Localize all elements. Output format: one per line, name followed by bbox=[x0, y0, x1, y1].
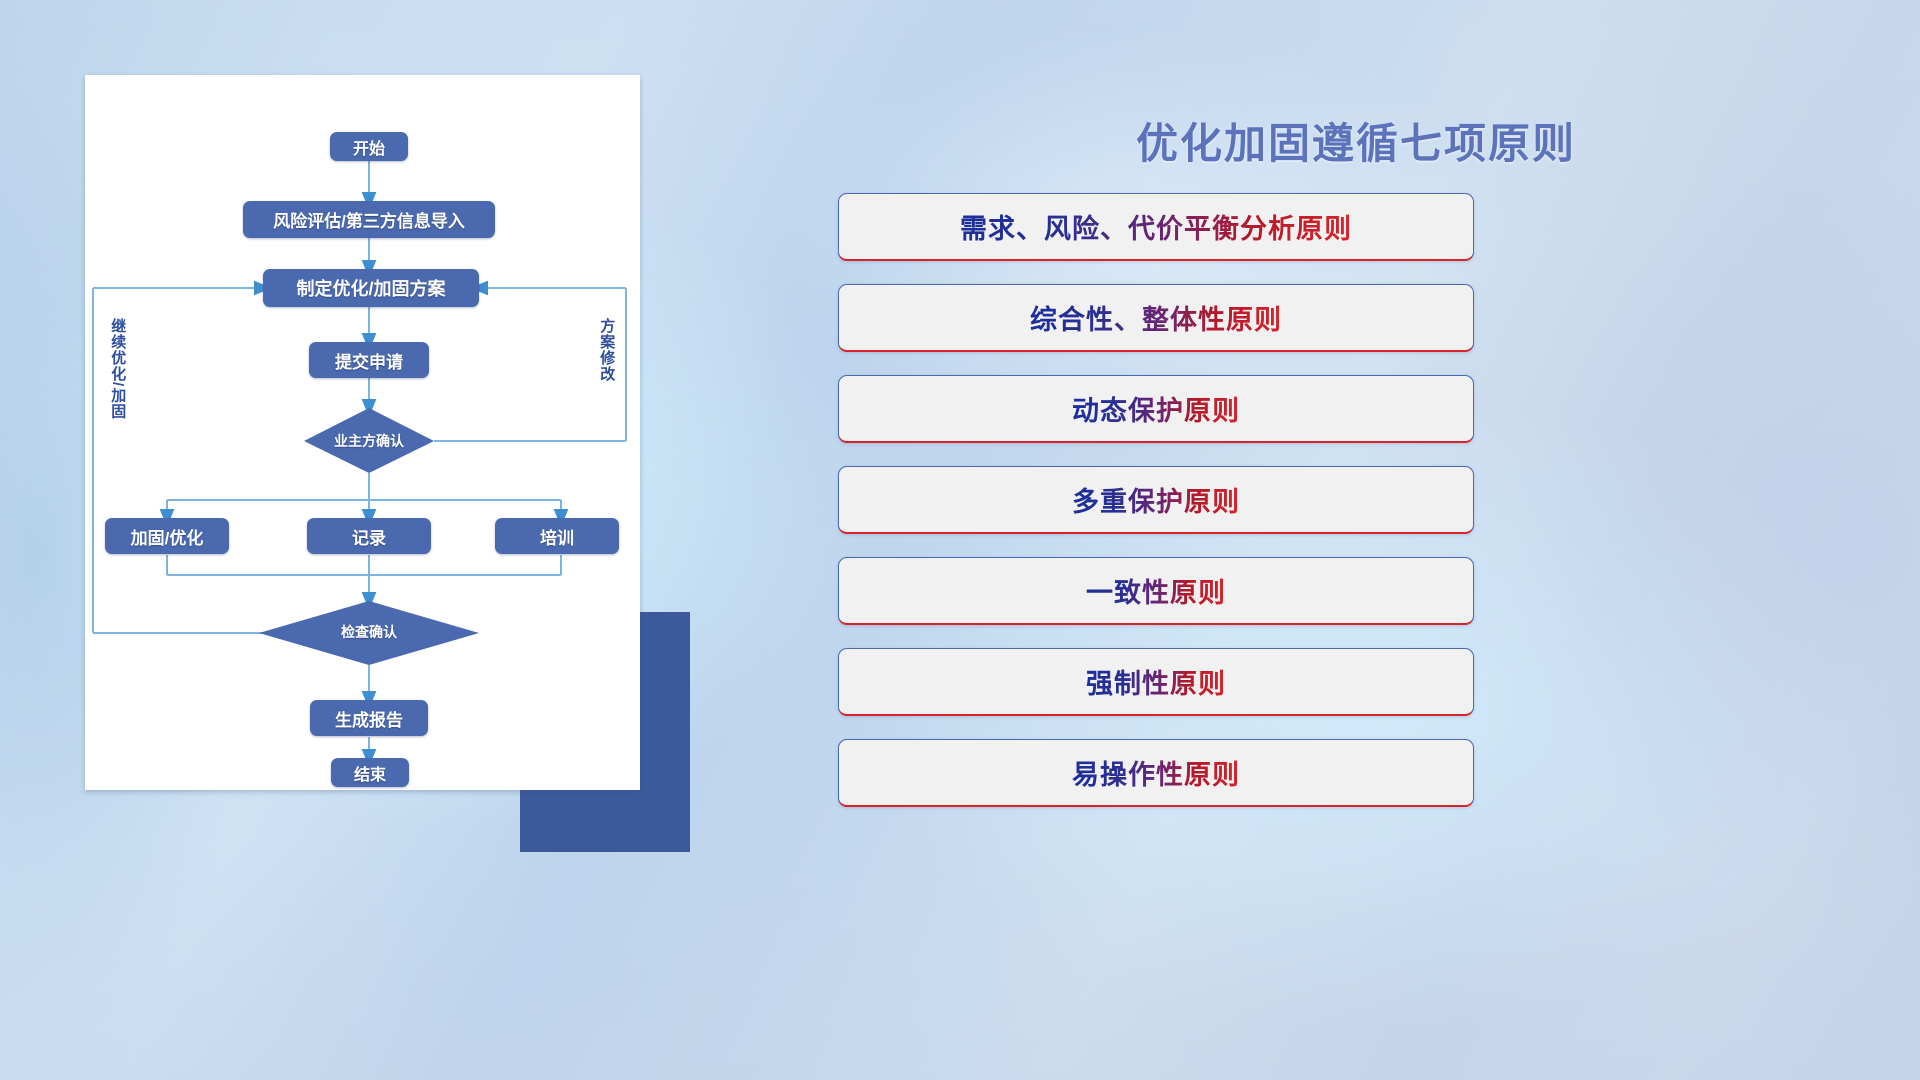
principles-title: 优化加固遵循七项原则 bbox=[936, 110, 1776, 171]
flow-node-end[interactable]: 结束 bbox=[331, 758, 409, 787]
principle-item-2[interactable]: 综合性、整体性原则 bbox=[838, 284, 1474, 352]
flow-node-risk-assessment[interactable]: 风险评估/第三方信息导入 bbox=[243, 201, 495, 238]
flow-node-inspect-confirm-label[interactable]: 检查确认 bbox=[304, 622, 434, 642]
flow-node-generate-report[interactable]: 生成报告 bbox=[310, 700, 428, 736]
principle-label-6: 强制性原则 bbox=[1086, 662, 1226, 701]
principle-label-2: 综合性、整体性原则 bbox=[1030, 298, 1282, 337]
principle-label-3: 动态保护原则 bbox=[1072, 389, 1240, 428]
principle-item-4[interactable]: 多重保护原则 bbox=[838, 466, 1474, 534]
principle-label-7: 易操作性原则 bbox=[1072, 753, 1240, 792]
flow-node-plan[interactable]: 制定优化/加固方案 bbox=[263, 269, 479, 307]
principles-panel: 优化加固遵循七项原则 需求、风险、代价平衡分析原则 综合性、整体性原则 动态保护… bbox=[836, 0, 1920, 1080]
principle-item-1[interactable]: 需求、风险、代价平衡分析原则 bbox=[838, 193, 1474, 261]
principle-item-5[interactable]: 一致性原则 bbox=[838, 557, 1474, 625]
flow-node-reinforce-optimize[interactable]: 加固/优化 bbox=[105, 518, 229, 554]
principle-item-3[interactable]: 动态保护原则 bbox=[838, 375, 1474, 443]
flow-edge-label-plan-revision: 方案修改 bbox=[598, 318, 614, 382]
flow-node-owner-confirm-label[interactable]: 业主方确认 bbox=[304, 431, 434, 451]
principle-item-6[interactable]: 强制性原则 bbox=[838, 648, 1474, 716]
flow-node-record[interactable]: 记录 bbox=[307, 518, 431, 554]
flow-node-training[interactable]: 培训 bbox=[495, 518, 619, 554]
flow-node-start[interactable]: 开始 bbox=[330, 132, 408, 161]
flowchart-card: 开始 风险评估/第三方信息导入 制定优化/加固方案 提交申请 业主方确认 加固/… bbox=[85, 75, 640, 790]
principle-label-4: 多重保护原则 bbox=[1072, 480, 1240, 519]
flow-edge-label-continue-optimize: 继续优化/加固 bbox=[109, 318, 125, 419]
principle-item-7[interactable]: 易操作性原则 bbox=[838, 739, 1474, 807]
principle-label-1: 需求、风险、代价平衡分析原则 bbox=[960, 207, 1352, 246]
flow-node-submit-application[interactable]: 提交申请 bbox=[309, 342, 429, 378]
principle-label-5: 一致性原则 bbox=[1086, 571, 1226, 610]
